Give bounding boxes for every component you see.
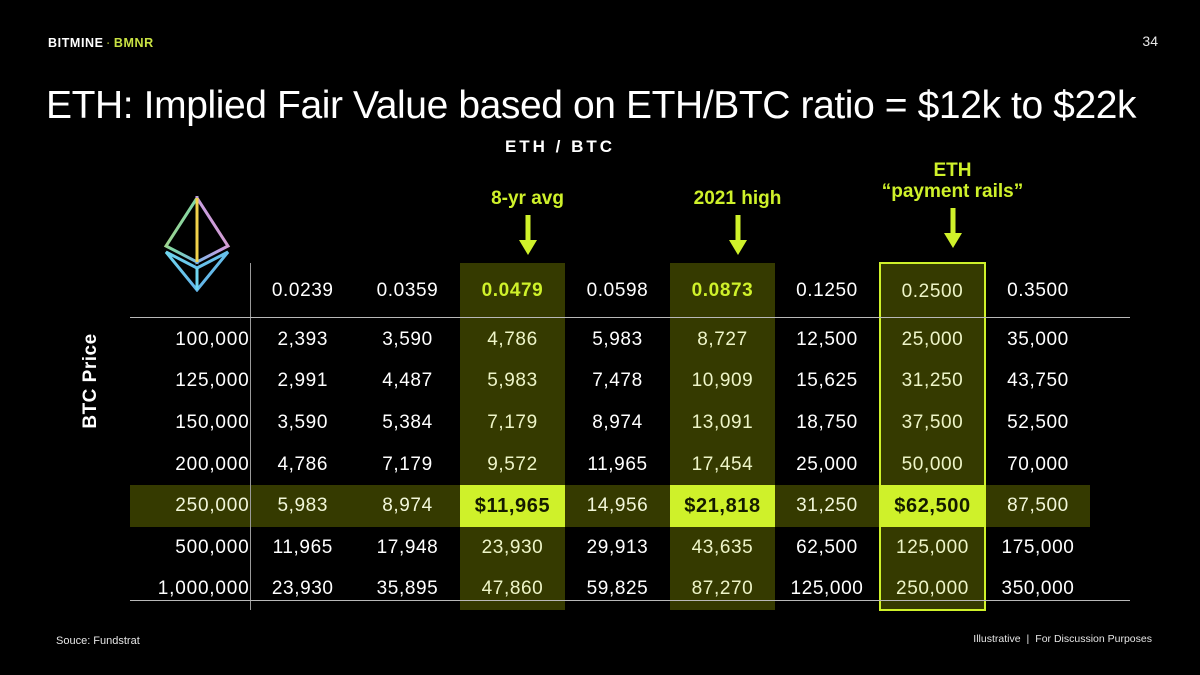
cell-6-3: 59,825 xyxy=(565,569,670,611)
cell-5-2: 23,930 xyxy=(460,527,565,569)
column-header-0: 0.0239 xyxy=(250,263,355,319)
table-row: 500,000 11,965 17,948 23,930 29,913 43,6… xyxy=(130,527,1090,569)
brand-logo: BITMINE·BMNR xyxy=(48,36,154,50)
cell-2-2: 7,179 xyxy=(460,402,565,444)
cell-2-7: 52,500 xyxy=(985,402,1090,444)
column-header-2: 0.0479 xyxy=(460,263,565,319)
cell-0-0: 2,393 xyxy=(250,319,355,361)
footer-divider xyxy=(130,600,1130,601)
disclaimer-separator: | xyxy=(1027,633,1030,645)
cell-2-4: 13,091 xyxy=(670,402,775,444)
column-header-5: 0.1250 xyxy=(775,263,880,319)
cell-4-4: $21,818 xyxy=(670,485,775,527)
callout-label: 8-yr avg xyxy=(491,188,564,209)
cell-3-5: 25,000 xyxy=(775,444,880,486)
cell-0-1: 3,590 xyxy=(355,319,460,361)
cell-0-3: 5,983 xyxy=(565,319,670,361)
table-corner-cell xyxy=(130,263,250,319)
cell-6-7: 350,000 xyxy=(985,569,1090,611)
column-header-1: 0.0359 xyxy=(355,263,460,319)
callout-8yr-avg: 8-yr avg xyxy=(455,188,600,260)
column-header-7: 0.3500 xyxy=(985,263,1090,319)
column-header-6: 0.2500 xyxy=(880,263,985,319)
brand-separator: · xyxy=(107,38,111,50)
table-row: 200,000 4,786 7,179 9,572 11,965 17,454 … xyxy=(130,444,1090,486)
table-header-row: 0.0239 0.0359 0.0479 0.0598 0.0873 0.125… xyxy=(130,263,1090,319)
cell-5-1: 17,948 xyxy=(355,527,460,569)
cell-5-6: 125,000 xyxy=(880,527,985,569)
cell-1-1: 4,487 xyxy=(355,361,460,403)
row-label-0: 100,000 xyxy=(130,319,250,361)
source-note: Souce: Fundstrat xyxy=(56,635,140,647)
disclaimer-left: Illustrative xyxy=(973,633,1020,645)
table-row: 100,000 2,393 3,590 4,786 5,983 8,727 12… xyxy=(130,319,1090,361)
cell-2-5: 18,750 xyxy=(775,402,880,444)
down-arrow-icon xyxy=(855,208,1050,253)
cell-4-6: $62,500 xyxy=(880,485,985,527)
cell-2-3: 8,974 xyxy=(565,402,670,444)
row-label-2: 150,000 xyxy=(130,402,250,444)
cell-6-6: 250,000 xyxy=(880,569,985,611)
page-number: 34 xyxy=(1142,33,1158,49)
cell-2-6: 37,500 xyxy=(880,402,985,444)
callout-payment-rails: ETH “payment rails” xyxy=(855,160,1050,253)
cell-6-4: 87,270 xyxy=(670,569,775,611)
cell-2-0: 3,590 xyxy=(250,402,355,444)
cell-5-7: 175,000 xyxy=(985,527,1090,569)
cell-3-1: 7,179 xyxy=(355,444,460,486)
cell-1-6: 31,250 xyxy=(880,361,985,403)
cell-4-1: 8,974 xyxy=(355,485,460,527)
cell-3-0: 4,786 xyxy=(250,444,355,486)
row-axis-label: BTC Price xyxy=(80,311,102,451)
cell-5-4: 43,635 xyxy=(670,527,775,569)
cell-0-4: 8,727 xyxy=(670,319,775,361)
cell-1-0: 2,991 xyxy=(250,361,355,403)
row-label-4: 250,000 xyxy=(130,485,250,527)
cell-3-4: 17,454 xyxy=(670,444,775,486)
row-label-5: 500,000 xyxy=(130,527,250,569)
cell-6-1: 35,895 xyxy=(355,569,460,611)
callout-2021-high: 2021 high xyxy=(665,188,810,260)
column-header-4: 0.0873 xyxy=(670,263,775,319)
cell-1-4: 10,909 xyxy=(670,361,775,403)
cell-3-7: 70,000 xyxy=(985,444,1090,486)
row-label-1: 125,000 xyxy=(130,361,250,403)
cell-3-6: 50,000 xyxy=(880,444,985,486)
cell-5-0: 11,965 xyxy=(250,527,355,569)
table-row-highlighted: 250,000 5,983 8,974 $11,965 14,956 $21,8… xyxy=(130,485,1090,527)
cell-4-0: 5,983 xyxy=(250,485,355,527)
cell-4-3: 14,956 xyxy=(565,485,670,527)
cell-1-2: 5,983 xyxy=(460,361,565,403)
callout-label: 2021 high xyxy=(694,188,782,209)
table-row: 1,000,000 23,930 35,895 47,860 59,825 87… xyxy=(130,569,1090,611)
table-body: 100,000 2,393 3,590 4,786 5,983 8,727 12… xyxy=(130,319,1090,610)
disclaimer-note: Illustrative|For Discussion Purposes xyxy=(973,633,1152,645)
cell-2-1: 5,384 xyxy=(355,402,460,444)
cell-3-2: 9,572 xyxy=(460,444,565,486)
cell-1-5: 15,625 xyxy=(775,361,880,403)
brand-name: BITMINE xyxy=(48,36,104,50)
cell-0-6: 25,000 xyxy=(880,319,985,361)
cell-4-7: 87,500 xyxy=(985,485,1090,527)
cell-6-2: 47,860 xyxy=(460,569,565,611)
cell-6-0: 23,930 xyxy=(250,569,355,611)
cell-5-5: 62,500 xyxy=(775,527,880,569)
column-header-3: 0.0598 xyxy=(565,263,670,319)
page-title: ETH: Implied Fair Value based on ETH/BTC… xyxy=(46,84,1136,128)
disclaimer-right: For Discussion Purposes xyxy=(1035,633,1152,645)
cell-1-7: 43,750 xyxy=(985,361,1090,403)
cell-1-3: 7,478 xyxy=(565,361,670,403)
down-arrow-icon xyxy=(665,215,810,260)
row-label-3: 200,000 xyxy=(130,444,250,486)
fair-value-table: 0.0239 0.0359 0.0479 0.0598 0.0873 0.125… xyxy=(130,262,1090,611)
row-label-6: 1,000,000 xyxy=(130,569,250,611)
cell-3-3: 11,965 xyxy=(565,444,670,486)
header-divider xyxy=(130,317,1130,318)
callout-label-line1: ETH xyxy=(934,160,972,181)
column-axis-caption: ETH / BTC xyxy=(0,137,1160,157)
down-arrow-icon xyxy=(455,215,600,260)
brand-ticker: BMNR xyxy=(114,36,154,50)
cell-0-7: 35,000 xyxy=(985,319,1090,361)
cell-0-2: 4,786 xyxy=(460,319,565,361)
table-row: 150,000 3,590 5,384 7,179 8,974 13,091 1… xyxy=(130,402,1090,444)
cell-0-5: 12,500 xyxy=(775,319,880,361)
callout-label-line2: “payment rails” xyxy=(882,181,1024,202)
cell-4-2: $11,965 xyxy=(460,485,565,527)
cell-5-3: 29,913 xyxy=(565,527,670,569)
table-row: 125,000 2,991 4,487 5,983 7,478 10,909 1… xyxy=(130,361,1090,403)
cell-4-5: 31,250 xyxy=(775,485,880,527)
slide: BITMINE·BMNR 34 ETH: Implied Fair Value … xyxy=(0,0,1200,675)
cell-6-5: 125,000 xyxy=(775,569,880,611)
